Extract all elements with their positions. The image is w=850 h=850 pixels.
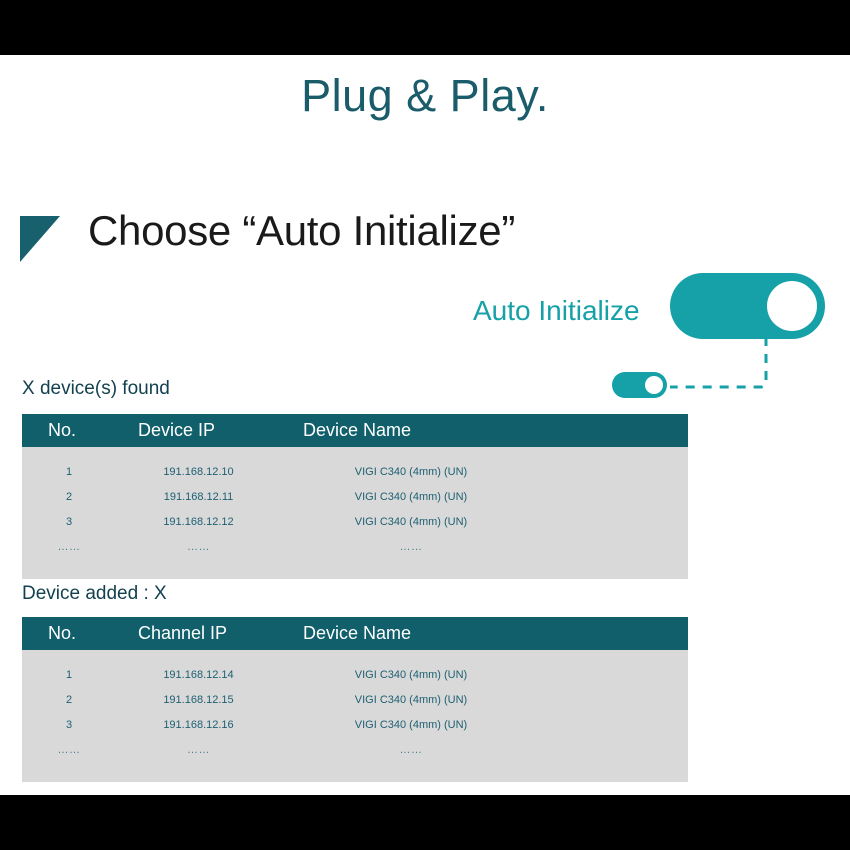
dashed-connector-line (668, 335, 778, 395)
slide-canvas: Plug & Play. Choose “Auto Initialize” Au… (0, 55, 850, 795)
table-row[interactable]: 3 191.168.12.12 VIGI C340 (4mm) (UN) (22, 509, 688, 534)
cell-channel-ip: …… (116, 744, 281, 756)
table-row[interactable]: 3 191.168.12.16 VIGI C340 (4mm) (UN) (22, 712, 688, 737)
table-row[interactable]: 1 191.168.12.14 VIGI C340 (4mm) (UN) (22, 662, 688, 687)
table-header-row: No. Device IP Device Name (22, 414, 688, 447)
slide-stage: Plug & Play. Choose “Auto Initialize” Au… (0, 0, 850, 850)
cell-device-name: VIGI C340 (4mm) (UN) (281, 719, 541, 731)
column-header-device-ip: Device IP (116, 420, 281, 441)
cell-device-name: VIGI C340 (4mm) (UN) (281, 669, 541, 681)
column-header-no: No. (22, 420, 116, 441)
cell-device-ip: 191.168.12.10 (116, 466, 281, 478)
cell-no: 2 (22, 491, 116, 503)
cell-device-ip: …… (116, 541, 281, 553)
triangle-marker-icon (20, 216, 60, 262)
cell-no: 2 (22, 694, 116, 706)
cell-no: 1 (22, 466, 116, 478)
cell-device-name: …… (281, 541, 541, 553)
table-row[interactable]: 2 191.168.12.11 VIGI C340 (4mm) (UN) (22, 484, 688, 509)
cell-no: 3 (22, 516, 116, 528)
toggle-knob-icon (645, 376, 663, 394)
cell-device-name: VIGI C340 (4mm) (UN) (281, 466, 541, 478)
table-row-ellipsis: …… …… …… (22, 737, 688, 762)
page-title: Plug & Play. (0, 70, 850, 122)
auto-initialize-label: Auto Initialize (473, 295, 640, 327)
cell-no: 3 (22, 719, 116, 731)
cell-channel-ip: 191.168.12.16 (116, 719, 281, 731)
table-header-row: No. Channel IP Device Name (22, 617, 688, 650)
cell-device-name: VIGI C340 (4mm) (UN) (281, 516, 541, 528)
toggle-knob-icon (767, 281, 817, 331)
cell-no: …… (22, 541, 116, 553)
cell-device-ip: 191.168.12.11 (116, 491, 281, 503)
table-row-ellipsis: …… …… …… (22, 534, 688, 559)
table-row[interactable]: 1 191.168.12.10 VIGI C340 (4mm) (UN) (22, 459, 688, 484)
column-header-channel-ip: Channel IP (116, 623, 281, 644)
cell-device-name: …… (281, 744, 541, 756)
cell-channel-ip: 191.168.12.15 (116, 694, 281, 706)
step-heading: Choose “Auto Initialize” (88, 207, 515, 255)
column-header-device-name: Device Name (281, 420, 541, 441)
cell-device-ip: 191.168.12.12 (116, 516, 281, 528)
auto-initialize-toggle-small[interactable] (612, 372, 667, 398)
table-body: 1 191.168.12.10 VIGI C340 (4mm) (UN) 2 1… (22, 447, 688, 579)
letterbox-top-bar (0, 0, 850, 55)
cell-no: 1 (22, 669, 116, 681)
device-added-table: No. Channel IP Device Name 1 191.168.12.… (22, 617, 688, 782)
cell-channel-ip: 191.168.12.14 (116, 669, 281, 681)
column-header-no: No. (22, 623, 116, 644)
table-row[interactable]: 2 191.168.12.15 VIGI C340 (4mm) (UN) (22, 687, 688, 712)
letterbox-bottom-bar (0, 795, 850, 850)
cell-device-name: VIGI C340 (4mm) (UN) (281, 694, 541, 706)
cell-device-name: VIGI C340 (4mm) (UN) (281, 491, 541, 503)
cell-no: …… (22, 744, 116, 756)
auto-initialize-toggle-large[interactable] (670, 273, 825, 339)
devices-found-table: No. Device IP Device Name 1 191.168.12.1… (22, 414, 688, 579)
devices-found-caption: X device(s) found (22, 378, 170, 400)
table-body: 1 191.168.12.14 VIGI C340 (4mm) (UN) 2 1… (22, 650, 688, 782)
column-header-device-name: Device Name (281, 623, 541, 644)
device-added-caption: Device added : X (22, 583, 167, 605)
